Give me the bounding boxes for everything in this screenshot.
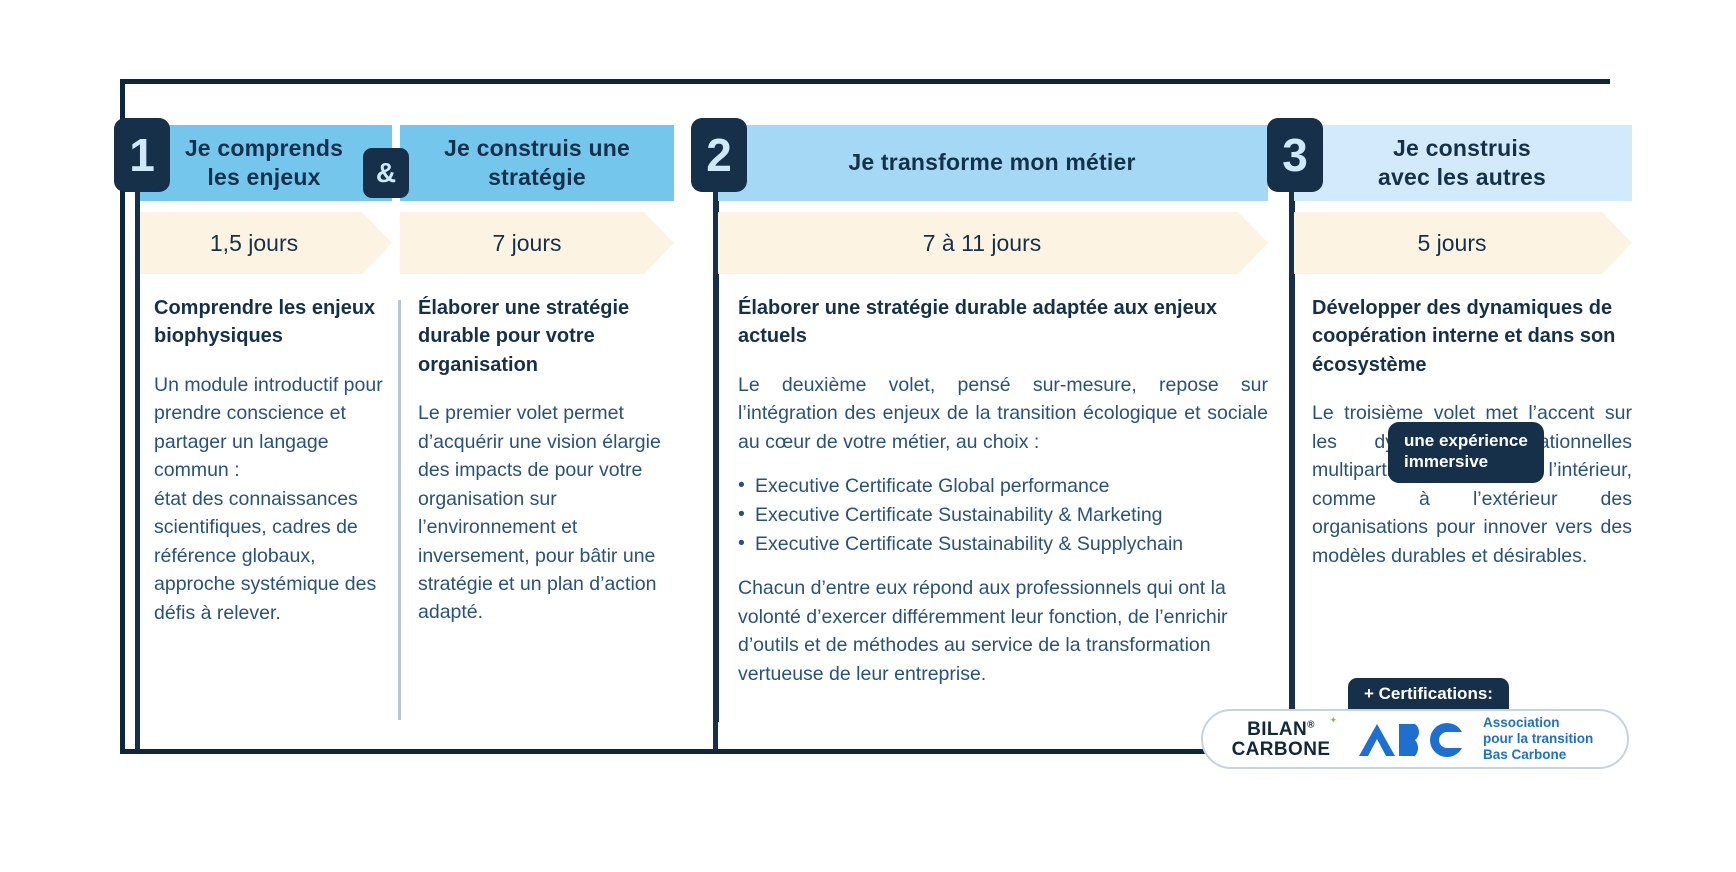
list-item: Executive Certificate Sustainability & S…: [738, 530, 1268, 559]
step-marker-2-label: 2: [706, 132, 732, 178]
immersive-badge-line-2: immersive: [1404, 452, 1528, 473]
column-1-duration: 1,5 jours: [136, 212, 392, 274]
certifications-tab-label: + Certifications:: [1364, 684, 1493, 703]
column-3: Je transforme mon métier 7 à 11 jours Él…: [716, 125, 1268, 704]
column-1: Je comprendsles enjeux 1,5 jours Compren…: [136, 125, 392, 643]
abc-text-line-1: Association: [1483, 715, 1593, 731]
certifications-tab: + Certifications:: [1348, 678, 1509, 712]
abc-text-line-3: Bas Carbone: [1483, 747, 1593, 763]
column-4-duration-label: 5 jours: [1417, 230, 1486, 257]
column-3-duration: 7 à 11 jours: [716, 212, 1268, 274]
column-3-subhead: Élaborer une stratégie durable adaptée a…: [738, 294, 1268, 351]
list-item: Executive Certificate Sustainability & M…: [738, 501, 1268, 530]
column-4-duration: 5 jours: [1292, 212, 1632, 274]
column-2-band-label: Je construis unestratégie: [444, 134, 630, 193]
bilan-carbone-line-1: BILAN®: [1217, 720, 1345, 739]
column-3-band: Je transforme mon métier: [716, 125, 1268, 201]
column-2-band: Je construis unestratégie: [400, 125, 674, 201]
column-2-subhead: Élaborer une stratégie durable pour votr…: [418, 294, 674, 379]
column-2-duration: 7 jours: [400, 212, 674, 274]
column-1-band-label: Je comprendsles enjeux: [185, 134, 343, 193]
pin-stem-2: [713, 150, 718, 750]
column-4-subhead: Développer des dynamiques de coopération…: [1312, 294, 1632, 379]
step-marker-1: 1: [114, 118, 170, 192]
column-3-duration-label: 7 à 11 jours: [923, 230, 1041, 257]
column-1-subhead: Comprendre les enjeux biophysiques: [154, 294, 392, 351]
column-3-band-label: Je transforme mon métier: [848, 148, 1135, 177]
column-1-body: Comprendre les enjeux biophysiques Un mo…: [136, 294, 392, 627]
column-1-duration-label: 1,5 jours: [210, 230, 298, 257]
step-marker-3: 3: [1267, 118, 1323, 192]
list-item: Executive Certificate Global performance: [738, 472, 1268, 501]
step-marker-3-label: 3: [1282, 132, 1308, 178]
leaf-icon: ✦: [1329, 716, 1337, 725]
column-2-body: Élaborer une stratégie durable pour votr…: [400, 294, 674, 627]
bilan-carbone-line-2: CARBONE: [1217, 740, 1345, 759]
bilan-word: BILAN: [1247, 719, 1307, 740]
ampersand-chip: &: [363, 148, 409, 198]
pin-stem-3: [1289, 150, 1294, 750]
column-2-paragraph: Le premier volet permet d’acquérir une v…: [418, 399, 674, 627]
column-3-paragraph-1: Le deuxième volet, pensé sur-mesure, rep…: [738, 371, 1268, 456]
column-4-band: Je construisavec les autres: [1292, 125, 1632, 201]
frame-top-rule: [120, 79, 1610, 84]
column-3-paragraph-2: Chacun d’entre eux répond aux profession…: [738, 574, 1268, 688]
bilan-carbone-logo: ✦ BILAN® CARBONE: [1217, 720, 1345, 759]
registered-mark: ®: [1307, 719, 1315, 730]
column-3-body: Élaborer une stratégie durable adaptée a…: [716, 294, 1268, 688]
immersive-badge-line-1: une expérience: [1404, 431, 1528, 452]
frame-bottom-rule: [120, 749, 1320, 754]
certifications-logo-pill: ✦ BILAN® CARBONE Association pour la tra…: [1201, 709, 1629, 769]
column-2-duration-label: 7 jours: [492, 230, 561, 257]
column-2: Je construis unestratégie 7 jours Élabor…: [400, 125, 674, 643]
abc-text-line-2: pour la transition: [1483, 731, 1593, 747]
column-4: Je construisavec les autres 5 jours Déve…: [1292, 125, 1632, 586]
immersive-experience-badge: une expérience immersive: [1388, 422, 1544, 483]
ampersand-label: &: [376, 159, 396, 187]
column-4-band-label: Je construisavec les autres: [1378, 134, 1546, 193]
column-1-paragraph: Un module introductif pour prendre consc…: [154, 371, 392, 627]
infographic-canvas: 1 & 2 3 Je comprendsles enjeux 1,5 jours…: [0, 0, 1736, 872]
step-marker-1-label: 1: [129, 132, 155, 178]
column-3-bullet-list: Executive Certificate Global performance…: [738, 472, 1268, 558]
pin-stem-1: [135, 150, 140, 750]
abc-logo-text: Association pour la transition Bas Carbo…: [1483, 715, 1593, 763]
step-marker-2: 2: [691, 118, 747, 192]
column-1-band: Je comprendsles enjeux: [136, 125, 392, 201]
abc-logo-icon: [1355, 718, 1473, 760]
